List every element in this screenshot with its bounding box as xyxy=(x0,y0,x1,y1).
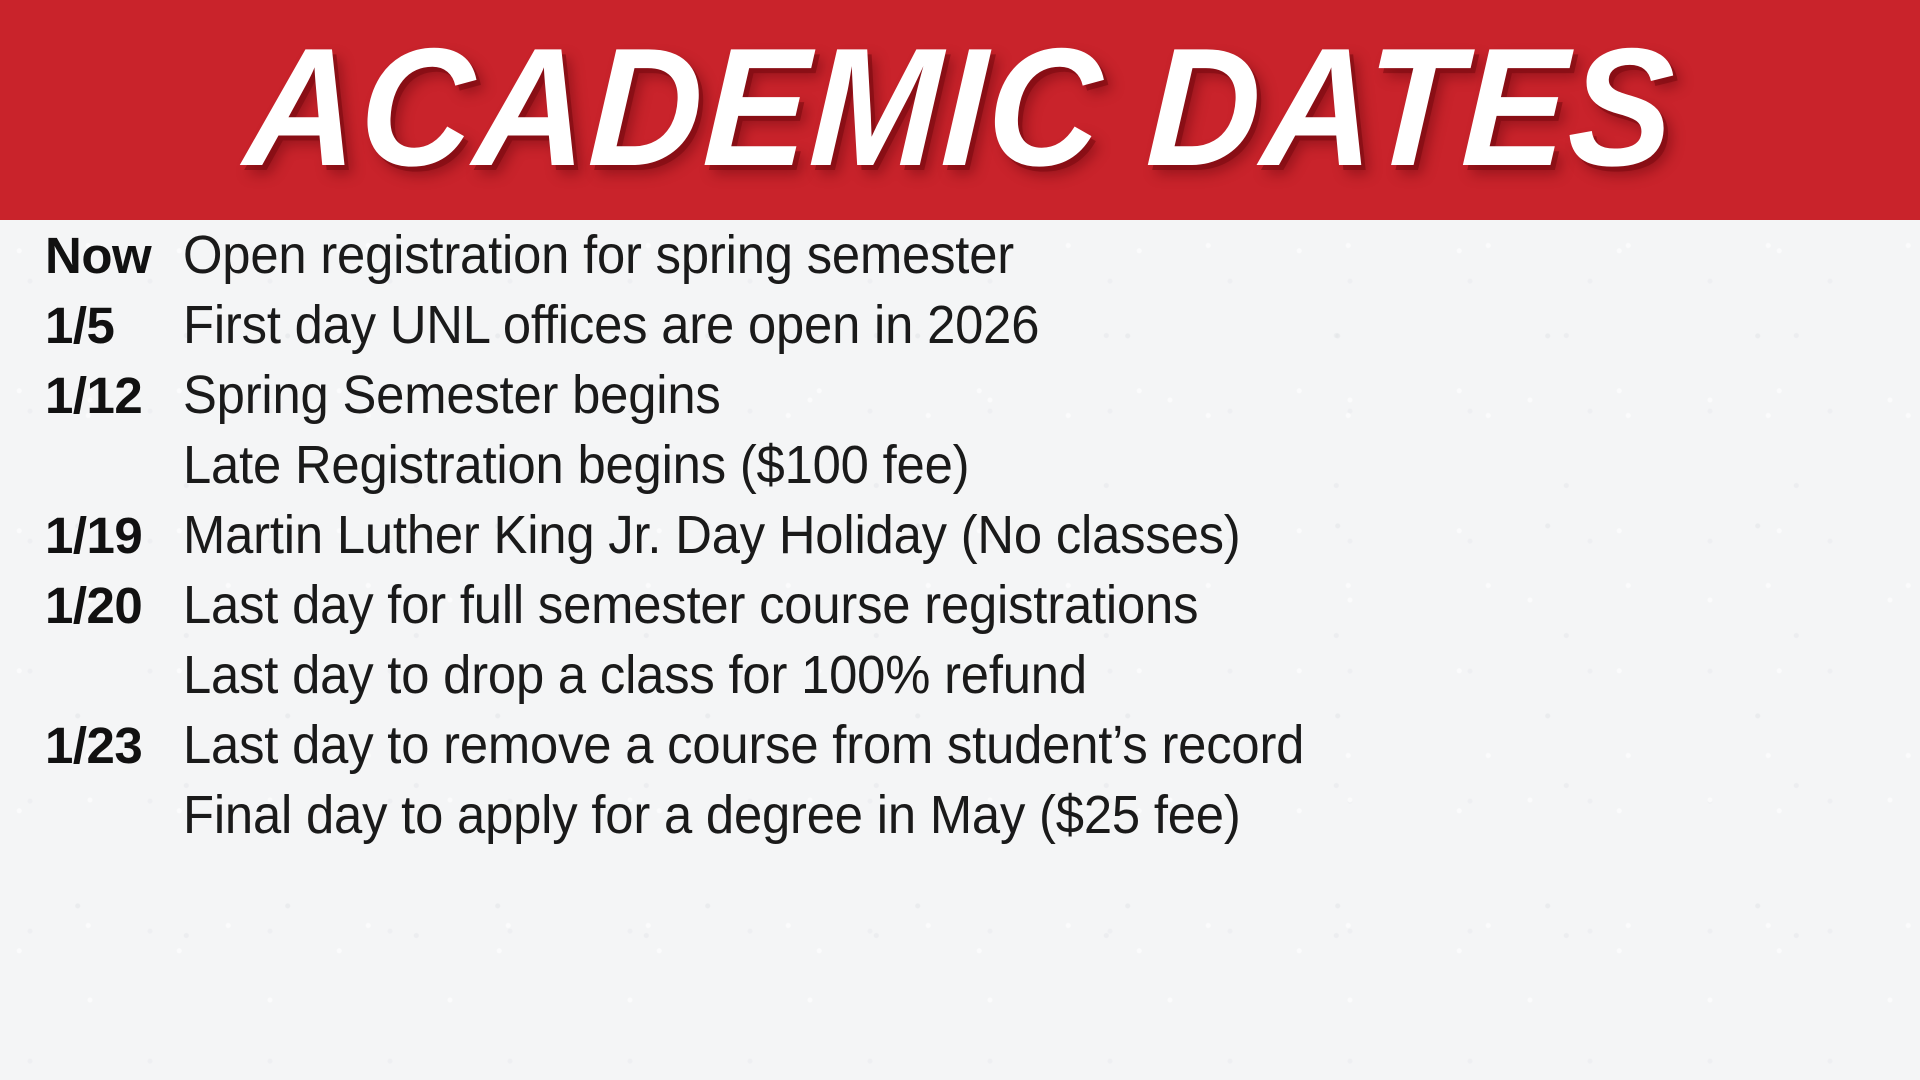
date-description: Final day to apply for a degree in May (… xyxy=(183,780,1816,850)
date-description: Martin Luther King Jr. Day Holiday (No c… xyxy=(183,500,1816,570)
list-item: 1/19 Martin Luther King Jr. Day Holiday … xyxy=(0,500,1920,570)
list-item: Now Open registration for spring semeste… xyxy=(0,220,1920,290)
date-label: Now xyxy=(0,221,183,291)
header-banner: ACADEMIC DATES xyxy=(0,0,1920,220)
list-item: 1/5 First day UNL offices are open in 20… xyxy=(0,290,1920,360)
list-item: Last day to drop a class for 100% refund xyxy=(0,640,1920,710)
list-item: Late Registration begins ($100 fee) xyxy=(0,430,1920,500)
date-description: Last day for full semester course regist… xyxy=(183,570,1816,640)
date-label: 1/23 xyxy=(0,711,183,781)
list-item: Final day to apply for a degree in May (… xyxy=(0,780,1920,850)
date-label: 1/19 xyxy=(0,501,183,571)
list-item: 1/23 Last day to remove a course from st… xyxy=(0,710,1920,780)
date-label: 1/12 xyxy=(0,361,183,431)
date-description: Last day to drop a class for 100% refund xyxy=(183,640,1816,710)
date-label: 1/20 xyxy=(0,571,183,641)
date-description: First day UNL offices are open in 2026 xyxy=(183,290,1816,360)
page-title: ACADEMIC DATES xyxy=(241,23,1678,191)
date-description: Open registration for spring semester xyxy=(183,220,1816,290)
date-label: 1/5 xyxy=(0,291,183,361)
list-item: 1/20 Last day for full semester course r… xyxy=(0,570,1920,640)
academic-dates-list: Now Open registration for spring semeste… xyxy=(0,220,1920,850)
list-item: 1/12 Spring Semester begins xyxy=(0,360,1920,430)
date-description: Last day to remove a course from student… xyxy=(183,710,1816,780)
date-description: Spring Semester begins xyxy=(183,360,1816,430)
date-description: Late Registration begins ($100 fee) xyxy=(183,430,1816,500)
